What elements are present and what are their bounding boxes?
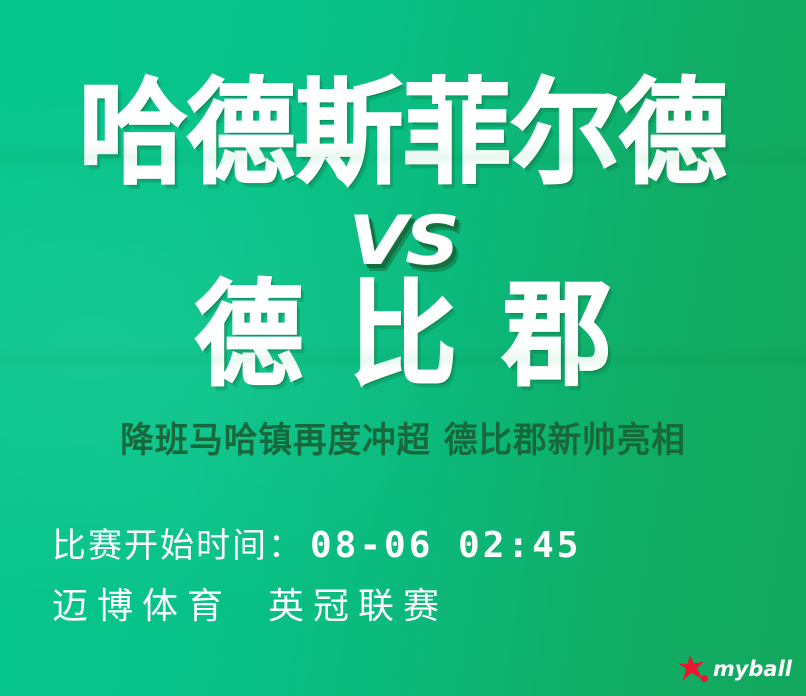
star-dot (701, 675, 708, 682)
brand-name: 迈博体育 (52, 577, 232, 629)
red-star-icon (679, 654, 709, 684)
logo-wordmark: myball (713, 659, 792, 680)
away-team-title: 德比郡 (0, 280, 806, 393)
kickoff-row: 比赛开始时间： 08-06 02:45 (52, 518, 581, 567)
poster-subtitle: 降班马哈镇再度冲超 德比郡新帅亮相 (16, 420, 790, 462)
home-team-title: 哈德斯菲尔德 (0, 78, 806, 191)
brand-league-row: 迈博体育 英冠联赛 (52, 577, 581, 629)
league-name: 英冠联赛 (268, 577, 448, 629)
match-promo-poster: 哈德斯菲尔德 VS 德比郡 降班马哈镇再度冲超 德比郡新帅亮相 比赛开始时间： … (0, 0, 806, 696)
kickoff-time-label: 比赛开始时间： (52, 518, 304, 567)
myball-logo: myball (679, 652, 792, 686)
kickoff-time-value: 08-06 02:45 (310, 525, 581, 566)
match-info-block: 比赛开始时间： 08-06 02:45 迈博体育 英冠联赛 (52, 518, 581, 629)
versus-label: VS (0, 208, 806, 276)
